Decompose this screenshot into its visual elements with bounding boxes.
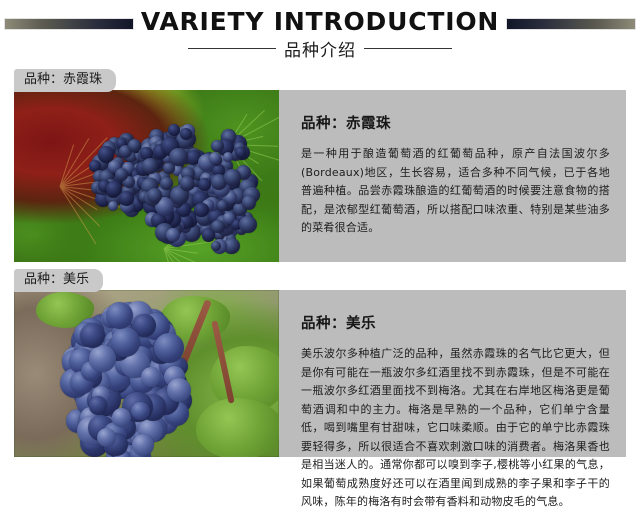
variety-text-cabernet: 品种：赤霞珠 是一种用于酿造葡萄酒的红葡萄品种，原产自法国波尔多(Bordeau… <box>279 90 626 262</box>
variety-section-cabernet: 品种：赤霞珠 品种：赤霞珠 是一种用于酿造葡萄酒的红葡萄品种，原产自法国波尔多(… <box>0 68 640 262</box>
variety-tab-merlot: 品种：美乐 <box>14 269 103 292</box>
variety-heading-merlot: 品种：美乐 <box>301 312 610 333</box>
subtitle-label: 品种介绍 <box>284 36 356 61</box>
page-header: VARIETY INTRODUCTION 品种介绍 <box>0 0 640 66</box>
variety-body-cabernet: 是一种用于酿造葡萄酒的红葡萄品种，原产自法国波尔多(Bordeaux)地区，生长… <box>301 145 610 238</box>
subtitle-rule-right <box>364 48 452 49</box>
variety-photo-cabernet <box>14 90 279 262</box>
page-subtitle: 品种介绍 <box>0 36 640 61</box>
subtitle-rule-left <box>188 48 276 49</box>
variety-body-merlot: 美乐波尔多种植广泛的品种，虽然赤霞珠的名气比它更大，但是你有可能在一瓶波尔多红酒… <box>301 345 610 512</box>
variety-heading-cabernet: 品种：赤霞珠 <box>301 112 610 133</box>
variety-panel-merlot: 品种：美乐 美乐波尔多种植广泛的品种，虽然赤霞珠的名气比它更大，但是你有可能在一… <box>14 290 626 457</box>
variety-text-merlot: 品种：美乐 美乐波尔多种植广泛的品种，虽然赤霞珠的名气比它更大，但是你有可能在一… <box>279 290 626 457</box>
variety-tab-cabernet: 品种：赤霞珠 <box>14 69 116 92</box>
variety-section-merlot: 品种：美乐 品种：美乐 美乐波尔多种植广泛的品种，虽然赤霞珠的名气比它更大，但是… <box>0 268 640 457</box>
variety-panel-cabernet: 品种：赤霞珠 是一种用于酿造葡萄酒的红葡萄品种，原产自法国波尔多(Bordeau… <box>14 90 626 262</box>
variety-photo-merlot <box>14 290 279 457</box>
page-title: VARIETY INTRODUCTION <box>0 7 640 36</box>
